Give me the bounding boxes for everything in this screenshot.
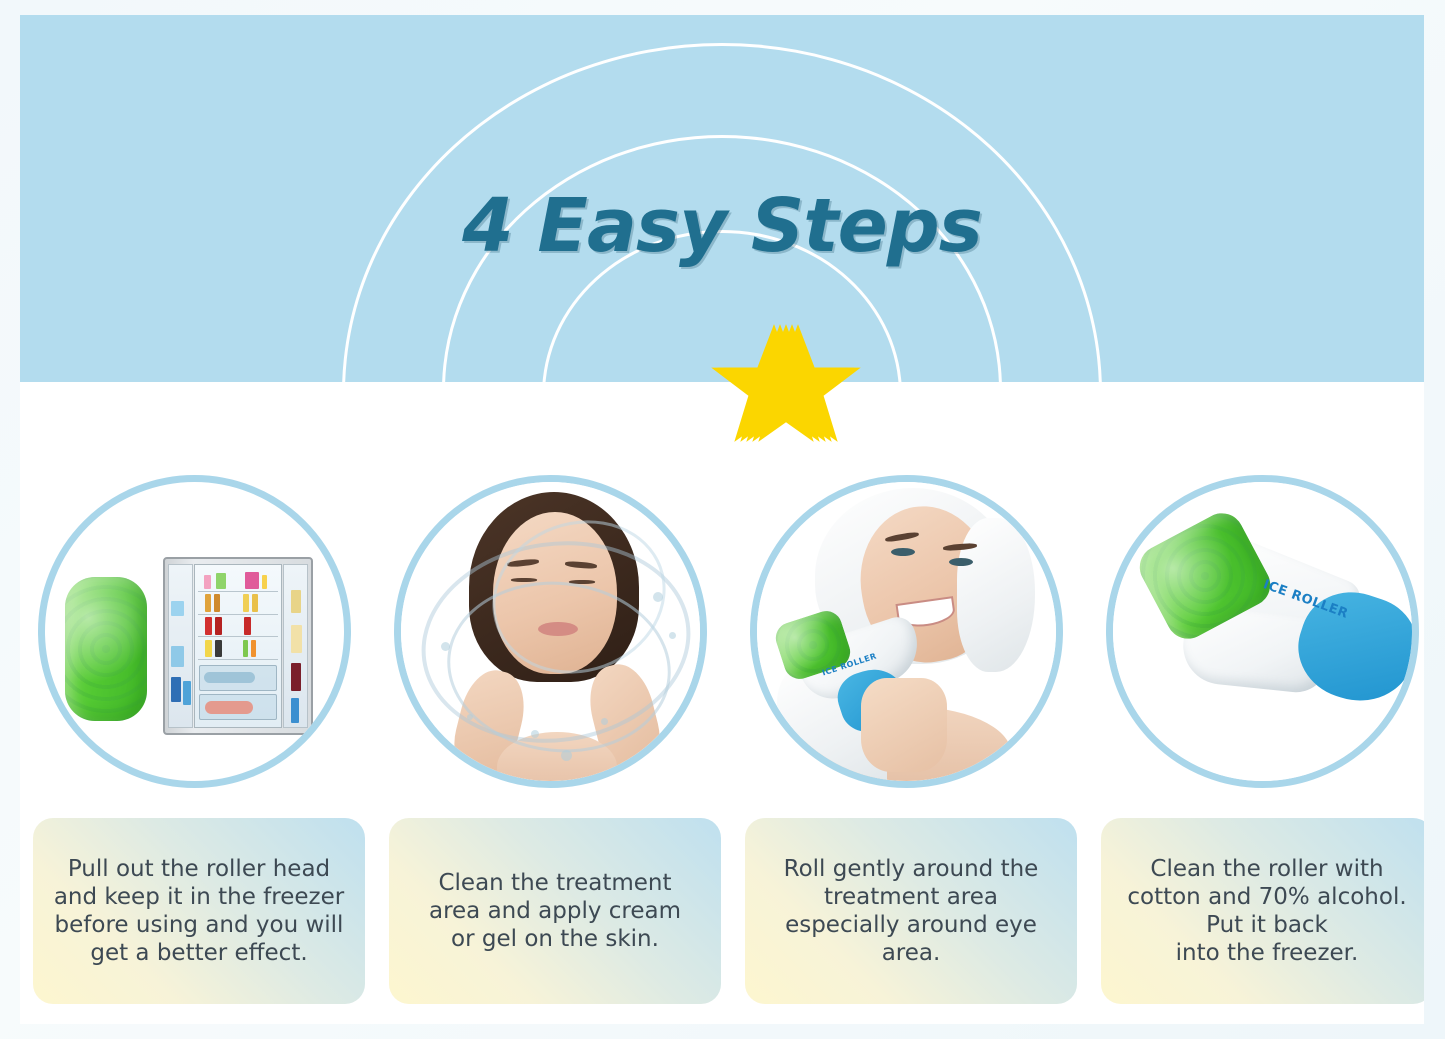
step-image-1 (38, 475, 351, 788)
step-image-4: ICE ROLLER (1106, 475, 1419, 788)
towel-side (957, 518, 1035, 672)
ice-roller-product-photo: ICE ROLLER (1113, 482, 1412, 781)
step-image-2 (394, 475, 707, 788)
page-title: 4 Easy Steps (20, 183, 1424, 269)
caption-text-4: Clean the roller with cotton and 70% alc… (1127, 855, 1406, 967)
woman-using-roller-photo: ICE ROLLER (757, 482, 1056, 781)
infographic-poster: 4 Easy Steps (0, 0, 1445, 1039)
caption-text-3: Roll gently around the treatment area es… (784, 855, 1039, 967)
step-captions-row: Pull out the roller head and keep it in … (20, 818, 1424, 1004)
step-image-3: ICE ROLLER (750, 475, 1063, 788)
face-washing-photo (401, 482, 700, 781)
caption-text-2: Clean the treatment area and apply cream… (429, 869, 681, 953)
poster-page: 4 Easy Steps (20, 15, 1424, 1024)
step-images-row: ICE ROLLER ICE ROLLER (20, 475, 1424, 788)
caption-box-4: Clean the roller with cotton and 70% alc… (1101, 818, 1424, 1004)
roller-head-and-fridge-illustration (45, 482, 344, 781)
caption-box-3: Roll gently around the treatment area es… (745, 818, 1077, 1004)
caption-box-1: Pull out the roller head and keep it in … (33, 818, 365, 1004)
roller-head-icon (65, 577, 147, 721)
caption-box-2: Clean the treatment area and apply cream… (389, 818, 721, 1004)
refrigerator-icon (163, 557, 313, 735)
fist (861, 678, 947, 772)
caption-text-1: Pull out the roller head and keep it in … (54, 855, 344, 967)
